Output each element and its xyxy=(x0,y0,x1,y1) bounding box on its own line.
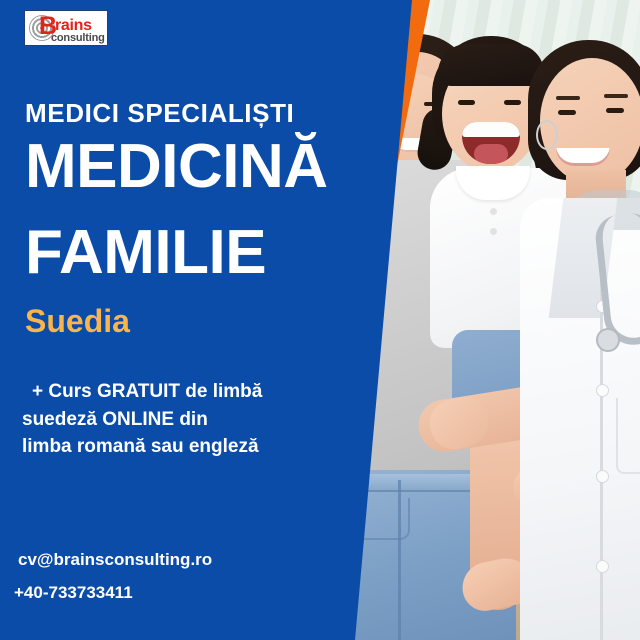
poster-content: B rains consulting MEDICI SPECIALIȘTI ME… xyxy=(0,0,640,640)
bonus-offer-text: + Curs GRATUIT de limbă suedeză ONLINE d… xyxy=(22,378,262,461)
bonus-line-3: limba romană sau engleză xyxy=(22,433,262,461)
poster-title-line2: FAMILIE xyxy=(25,222,266,284)
brains-consulting-logo[interactable]: B rains consulting xyxy=(24,10,108,46)
poster-kicker: MEDICI SPECIALIȘTI xyxy=(25,98,294,129)
bonus-line-1: + Curs GRATUIT de limbă xyxy=(22,378,262,406)
contact-email[interactable]: cv@brainsconsulting.ro xyxy=(18,550,212,570)
contact-phone[interactable]: +40-733733411 xyxy=(14,583,133,603)
recruitment-poster: B rains consulting MEDICI SPECIALIȘTI ME… xyxy=(0,0,640,640)
logo-tagline: consulting xyxy=(51,33,105,44)
poster-country: Suedia xyxy=(25,305,130,337)
bonus-line-2: suedeză ONLINE din xyxy=(22,406,262,434)
poster-title-line1: MEDICINĂ xyxy=(25,136,328,198)
